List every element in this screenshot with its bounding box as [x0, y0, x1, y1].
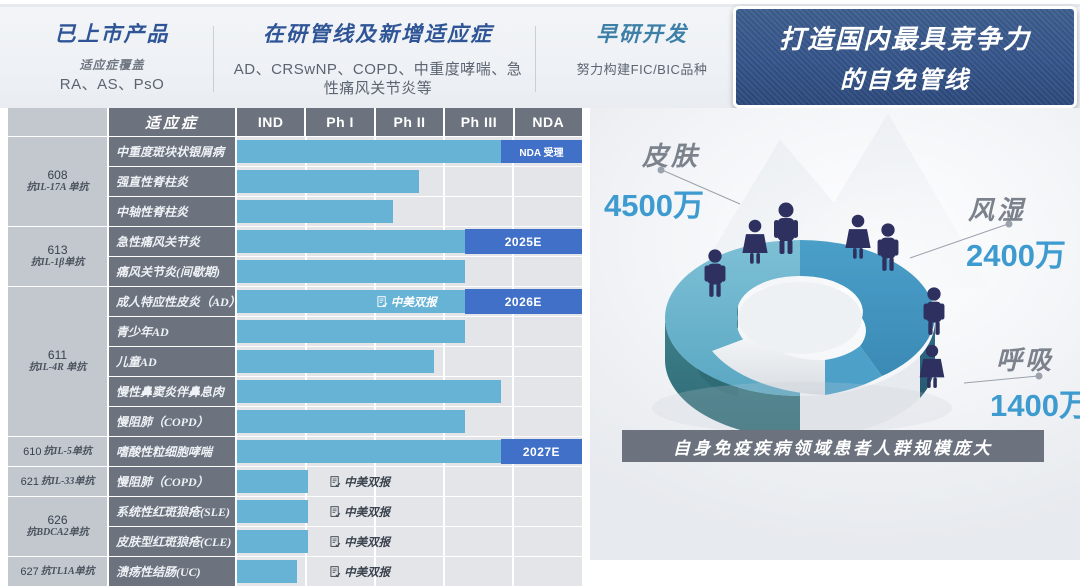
table-row[interactable]: 621抗IL-33单抗慢阻肺（COPD）中美双报 — [8, 467, 582, 496]
indication-cell: 系统性红斑狼疮(SLE) — [109, 497, 237, 526]
phase-lane-container: 2025E — [237, 227, 582, 256]
product-code: 611 — [48, 349, 67, 361]
phase-lane-container: 中美双报 — [237, 467, 582, 496]
dual-filing-badge: 中美双报 — [330, 467, 390, 496]
chart-label-rheumatism-name: 风湿 — [968, 190, 1026, 227]
chart-label-rheumatism: 风湿 — [968, 190, 1026, 227]
header-title-marketed: 已上市产品 — [14, 18, 210, 48]
phase-gridline — [443, 557, 445, 586]
estimate-badge: 2026E — [465, 289, 582, 314]
chart-value-skin: 4500万 — [604, 180, 704, 225]
table-row[interactable]: 610抗IL-5单抗嗜酸性粒细胞哮喘2027E — [8, 437, 582, 466]
document-icon — [330, 536, 341, 548]
table-header-indication: 适应症 — [109, 108, 237, 136]
chart-label-skin: 皮肤 — [642, 136, 700, 173]
chart-label-respiratory: 呼吸 — [996, 340, 1054, 377]
document-icon — [330, 476, 341, 488]
phase-lane-container: 中美双报 — [237, 497, 582, 526]
callout-line-2: 的自免管线 — [840, 60, 970, 95]
phase-gridline — [512, 347, 514, 376]
table-row[interactable]: 608抗IL-17A 单抗中重度斑块状银屑病NDA 受理 — [8, 137, 582, 166]
document-icon — [330, 506, 341, 518]
phase-lane-container: 2026E中美双报 — [237, 287, 582, 316]
phase-gridline — [512, 467, 514, 496]
product-cell: 608抗IL-17A 单抗 — [8, 137, 109, 226]
indication-cell: 强直性脊柱炎 — [109, 167, 237, 196]
phase-lane — [237, 407, 582, 436]
footer-caption-bar: 自身免疫疾病领域患者人群规模庞大 — [622, 430, 1044, 462]
estimate-badge: 2025E — [465, 229, 582, 254]
header-sub2-marketed: RA、AS、PsO — [14, 75, 210, 94]
document-icon — [377, 296, 388, 308]
phase-lane-container — [237, 407, 582, 436]
phase-lane: 2026E中美双报 — [237, 287, 582, 316]
product-cell: 627抗TL1A单抗 — [8, 557, 109, 586]
product-target: 抗IL-4R 单抗 — [29, 362, 87, 374]
header-divider-2 — [535, 26, 536, 92]
phase-lane-container: 中美双报 — [237, 527, 582, 556]
header-column-early: 早研开发 努力构建FIC/BIC品种 — [548, 18, 736, 79]
product-code: 610 — [23, 446, 41, 458]
product-cell: 626抗BDCA2单抗 — [8, 497, 109, 556]
phase-lane — [237, 347, 582, 376]
dual-filing-badge: 中美双报 — [330, 527, 390, 556]
phase-lane — [237, 377, 582, 406]
indication-cell: 慢阻肺（COPD） — [109, 407, 237, 436]
table-row[interactable]: 611抗IL-4R 单抗成人特应性皮炎（AD）2026E中美双报 — [8, 287, 582, 316]
progress-bar — [237, 530, 308, 553]
phase-gridline — [512, 257, 514, 286]
progress-bar — [237, 260, 465, 283]
indication-cell: 青少年AD — [109, 317, 237, 346]
phase-lane-container — [237, 347, 582, 376]
estimate-badge-text: 2027E — [523, 445, 560, 459]
indication-cell: 慢阻肺（COPD） — [109, 467, 237, 496]
phase-lane: 中美双报 — [237, 497, 582, 526]
callout-line-1: 打造国内最具竞争力 — [779, 19, 1031, 56]
header-divider-1 — [213, 26, 214, 92]
estimate-badge-text: 2026E — [505, 295, 542, 309]
phase-lane: 2025E — [237, 227, 582, 256]
phase-lane-container — [237, 377, 582, 406]
dual-filing-label: 中美双报 — [391, 294, 437, 310]
phase-lane-container — [237, 257, 582, 286]
phase-lane — [237, 257, 582, 286]
product-target: 抗BDCA2单抗 — [26, 527, 88, 539]
phase-lane-container — [237, 167, 582, 196]
header-sub2-early: 努力构建FIC/BIC品种 — [548, 60, 736, 79]
product-code: 621 — [21, 476, 39, 488]
phase-lane: NDA 受理 — [237, 137, 582, 166]
estimate-badge: 2027E — [501, 439, 582, 464]
phase-lane: 中美双报 — [237, 467, 582, 496]
nda-status-badge: NDA 受理 — [501, 140, 582, 163]
dual-filing-badge: 中美双报 — [377, 287, 437, 316]
product-target: 抗TL1A单抗 — [41, 566, 95, 578]
chart-label-respiratory-name: 呼吸 — [996, 340, 1054, 377]
phase-lane — [237, 167, 582, 196]
phase-gridline — [512, 557, 514, 586]
phase-gridline — [512, 167, 514, 196]
product-code: 626 — [47, 514, 67, 526]
phase-gridline — [443, 167, 445, 196]
headline-callout: 打造国内最具竞争力 的自免管线 — [733, 6, 1077, 108]
phase-gridline — [443, 527, 445, 556]
progress-bar — [237, 230, 465, 253]
phase-gridline — [512, 197, 514, 226]
phase-gridline — [443, 197, 445, 226]
indication-cell: 中重度斑块状银屑病 — [109, 137, 237, 166]
product-target: 抗IL-33单抗 — [41, 476, 94, 488]
phase-gridline — [512, 527, 514, 556]
indication-cell: 溃疡性结肠(UC) — [109, 557, 237, 586]
indication-cell: 慢性鼻窦炎伴鼻息肉 — [109, 377, 237, 406]
dual-filing-label: 中美双报 — [344, 504, 390, 520]
progress-bar — [237, 170, 419, 193]
progress-bar — [237, 350, 434, 373]
phase-lane-container — [237, 317, 582, 346]
phase-lane — [237, 317, 582, 346]
progress-bar — [237, 440, 501, 463]
product-code: 613 — [47, 244, 67, 256]
product-cell: 611抗IL-4R 单抗 — [8, 287, 109, 436]
progress-bar — [237, 200, 393, 223]
dual-filing-label: 中美双报 — [344, 564, 390, 580]
phase-gridline — [443, 467, 445, 496]
product-code: 627 — [20, 566, 38, 578]
table-header-phase-ph-iii: Ph III — [445, 108, 514, 136]
estimate-badge-text: 2025E — [505, 235, 542, 249]
phase-gridline — [512, 377, 514, 406]
chart-value-respiratory-text: 1400万 — [990, 380, 1080, 425]
table-header-phase-nda: NDA — [515, 108, 582, 136]
phase-lane-container: 2027E — [237, 437, 582, 466]
indication-cell: 成人特应性皮炎（AD） — [109, 287, 237, 316]
header-column-marketed: 已上市产品 适应症覆盖 RA、AS、PsO — [14, 18, 210, 94]
dual-filing-label: 中美双报 — [344, 534, 390, 550]
document-icon — [330, 566, 341, 578]
indication-cell: 儿童AD — [109, 347, 237, 376]
phase-lane-container: NDA 受理 — [237, 137, 582, 166]
product-cell: 621抗IL-33单抗 — [8, 467, 109, 496]
chart-value-rheumatism-text: 2400万 — [966, 230, 1066, 275]
pipeline-table: 适应症INDPh IPh IIPh IIINDA608抗IL-17A 单抗中重度… — [8, 108, 582, 587]
phase-lane-container — [237, 197, 582, 226]
indication-cell: 嗜酸性粒细胞哮喘 — [109, 437, 237, 466]
nda-badge-text: NDA 受理 — [519, 144, 563, 159]
progress-bar — [237, 320, 465, 343]
header-sub2-pipeline: AD、CRSwNP、COPD、中重度哮喘、急性痛风关节炎等 — [228, 60, 528, 98]
phase-gridline — [305, 557, 307, 586]
dual-filing-label: 中美双报 — [344, 474, 390, 490]
dual-filing-badge: 中美双报 — [330, 497, 390, 526]
phase-lane: 中美双报 — [237, 557, 582, 586]
table-header-product — [8, 108, 109, 136]
footer-caption-text: 自身免疫疾病领域患者人群规模庞大 — [673, 434, 993, 459]
phase-gridline — [443, 347, 445, 376]
header-column-pipeline: 在研管线及新增适应症 AD、CRSwNP、COPD、中重度哮喘、急性痛风关节炎等 — [228, 18, 528, 98]
product-cell: 613抗IL-1β单抗 — [8, 227, 109, 286]
indication-cell: 痛风关节炎(间歇期) — [109, 257, 237, 286]
pipeline-table-wrapper: 适应症INDPh IPh IIPh IIINDA608抗IL-17A 单抗中重度… — [0, 108, 590, 560]
header-title-early: 早研开发 — [548, 18, 736, 48]
table-header-row: 适应症INDPh IPh IIPh IIINDA — [8, 108, 582, 136]
dual-filing-badge: 中美双报 — [330, 557, 390, 586]
progress-bar — [237, 470, 308, 493]
progress-bar — [237, 410, 465, 433]
header-title-pipeline: 在研管线及新增适应症 — [228, 18, 528, 48]
chart-value-respiratory: 1400万 — [990, 380, 1080, 425]
table-header-phase-ph-ii: Ph II — [376, 108, 445, 136]
chart-label-skin-name: 皮肤 — [642, 136, 700, 173]
phase-lane: 中美双报 — [237, 527, 582, 556]
product-cell: 610抗IL-5单抗 — [8, 437, 109, 466]
chart-value-rheumatism: 2400万 — [966, 230, 1066, 275]
progress-bar — [237, 500, 308, 523]
phase-gridline — [512, 407, 514, 436]
table-row[interactable]: 626抗BDCA2单抗系统性红斑狼疮(SLE)中美双报 — [8, 497, 582, 526]
phase-lane — [237, 197, 582, 226]
chart-value-skin-text: 4500万 — [604, 180, 704, 225]
header-sub1-marketed: 适应症覆盖 — [14, 56, 210, 73]
indication-cell: 中轴性脊柱炎 — [109, 197, 237, 226]
product-target: 抗IL-17A 单抗 — [27, 182, 89, 194]
phase-gridline — [512, 497, 514, 526]
progress-bar — [237, 380, 501, 403]
indication-cell: 急性痛风关节炎 — [109, 227, 237, 256]
table-header-phase-ph-i: Ph I — [306, 108, 375, 136]
phase-gridline — [512, 317, 514, 346]
product-target: 抗IL-5单抗 — [44, 446, 92, 458]
header-band: 已上市产品 适应症覆盖 RA、AS、PsO 在研管线及新增适应症 AD、CRSw… — [0, 4, 1080, 108]
table-header-phase-ind: IND — [237, 108, 306, 136]
table-row[interactable]: 627抗TL1A单抗溃疡性结肠(UC)中美双报 — [8, 557, 582, 586]
product-target: 抗IL-1β单抗 — [31, 257, 84, 269]
table-header-phases: INDPh IPh IIPh IIINDA — [237, 108, 582, 136]
phase-lane-container: 中美双报 — [237, 557, 582, 586]
product-code: 608 — [47, 169, 67, 181]
table-row[interactable]: 613抗IL-1β单抗急性痛风关节炎2025E — [8, 227, 582, 256]
patient-population-illustration: 皮肤 4500万 风湿 2400万 呼吸 1400万 自身免疫疾病领域患者人群规… — [590, 108, 1080, 560]
progress-bar — [237, 560, 297, 583]
phase-gridline — [443, 497, 445, 526]
indication-cell: 皮肤型红斑狼疮(CLE) — [109, 527, 237, 556]
phase-lane: 2027E — [237, 437, 582, 466]
